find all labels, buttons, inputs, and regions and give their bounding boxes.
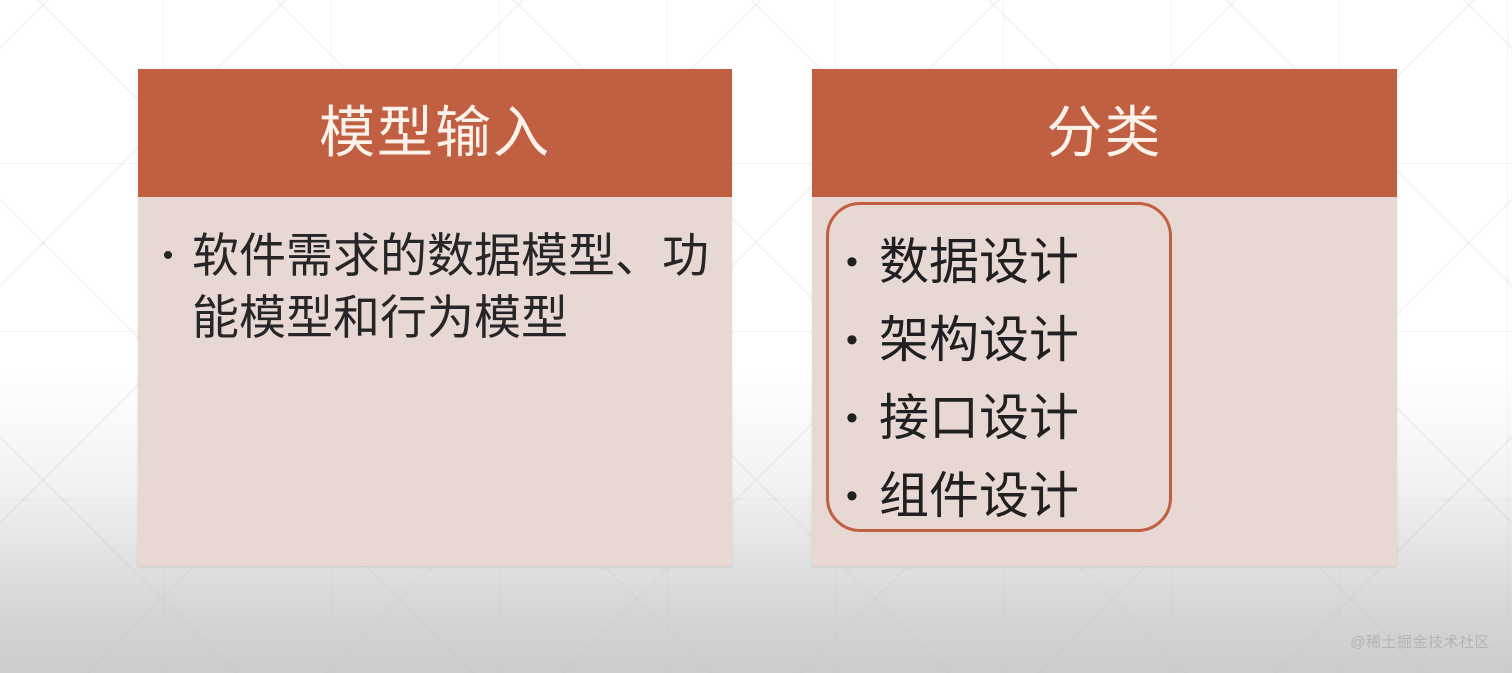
list-item: • 组件设计 [829,457,1169,535]
card-classification: 分类 • 数据设计 • 架构设计 • 接口设计 [812,69,1397,566]
card-model-input-header: 模型输入 [138,69,732,197]
card-classification-title: 分类 [1047,105,1163,161]
card-model-input: 模型输入 • 软件需求的数据模型、功能模型和行为模型 [138,69,732,566]
card-classification-body: • 数据设计 • 架构设计 • 接口设计 • 组件设计 [812,197,1397,566]
list-item-label: 接口设计 [879,391,1079,446]
list-item: • 数据设计 [829,223,1169,301]
bullet-dot-icon: • [162,225,174,287]
list-item-label: 组件设计 [879,469,1079,524]
bullet-dot-icon: • [845,323,859,357]
card-model-input-title: 模型输入 [319,105,551,161]
list-item: • 架构设计 [829,301,1169,379]
highlight-rounded-box: • 数据设计 • 架构设计 • 接口设计 • 组件设计 [826,202,1172,532]
list-item: • 接口设计 [829,379,1169,457]
card-classification-header: 分类 [812,69,1397,197]
slide-stage: 模型输入 • 软件需求的数据模型、功能模型和行为模型 分类 • 数据设计 • [0,0,1512,673]
bullet-paragraph: • 软件需求的数据模型、功能模型和行为模型 [162,225,716,349]
list-item-label: 数据设计 [879,235,1079,290]
bullet-dot-icon: • [845,245,859,279]
card-model-input-body: • 软件需求的数据模型、功能模型和行为模型 [138,197,732,566]
watermark: @稀土掘金技术社区 [1350,631,1490,652]
list-item-label: 架构设计 [879,313,1079,368]
bullet-dot-icon: • [845,479,859,513]
bullet-paragraph-text: 软件需求的数据模型、功能模型和行为模型 [192,225,716,349]
classification-list: • 数据设计 • 架构设计 • 接口设计 • 组件设计 [829,205,1169,535]
bullet-dot-icon: • [845,401,859,435]
